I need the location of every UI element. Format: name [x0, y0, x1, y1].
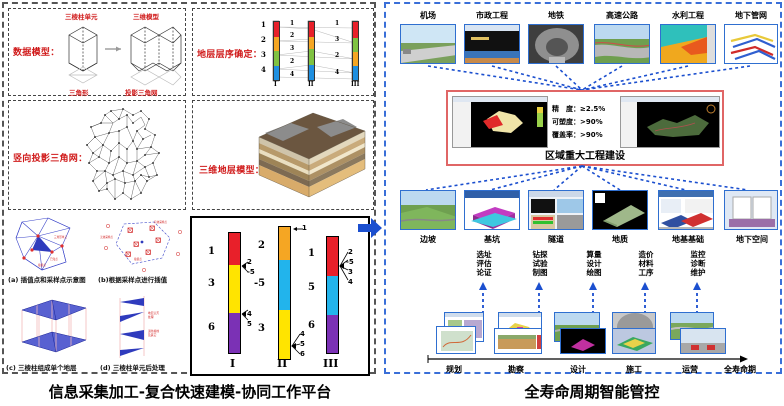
center-spec-2: 覆盖率：>90% — [552, 130, 603, 140]
corr-right-num-4: 4 — [335, 69, 339, 76]
corr-mid-num-5: 4 — [290, 71, 294, 78]
center-spec-1: 可塑度：>90% — [552, 117, 603, 127]
subfigure-c: (c) 三棱柱组成单个地层 — [12, 294, 100, 372]
center-spec-0-key: 精 度： — [552, 105, 580, 113]
top-thumb-4[interactable] — [660, 24, 716, 64]
lifecycle-stage-2: 设计 — [570, 364, 586, 375]
subfigure-a-svg: 三角形单元 已知点 插值点 — [8, 216, 96, 274]
verb-column-2: 算量 设计 绘图 — [574, 250, 614, 277]
svg-text:无效采样点: 无效采样点 — [100, 235, 113, 239]
col-II-label-2: 2 — [258, 240, 265, 251]
mid-thumb-5[interactable] — [724, 190, 778, 230]
mid-thumb-cap-4: 地基基础 — [658, 234, 718, 245]
mid-thumb-cap-1: 基坑 — [464, 234, 520, 245]
svg-text:插值点: 插值点 — [134, 257, 142, 261]
verb-column-3: 造价 材料 工序 — [626, 250, 666, 277]
corr-left-num-1: 1 — [261, 20, 266, 29]
lifecycle-stage-0: 规划 — [446, 364, 462, 375]
verb-column-1: 钻探 试验 制图 — [520, 250, 560, 277]
lifecycle-up-arrows — [386, 280, 784, 314]
corr-mid-num-2: 2 — [290, 32, 294, 39]
lifecycle-axis — [426, 354, 766, 366]
center-box-caption: 区域重大工程建设 — [448, 147, 722, 162]
col-I-roman: I — [230, 357, 235, 370]
verb-2-2: 绘图 — [574, 268, 614, 277]
mid-connector-lines — [386, 164, 784, 192]
mid-thumb-1[interactable] — [464, 190, 520, 230]
corr-mid-num-3: 3 — [290, 45, 294, 52]
top-thumb-1[interactable] — [464, 24, 520, 64]
strata-block-figure — [239, 107, 369, 203]
correlation-column-2 — [308, 21, 315, 81]
left-panel-title: 信息采集加工-复合快速建模-协同工作平台 — [0, 381, 380, 402]
corr-axis-2: II — [308, 81, 314, 88]
borehole-column-chart: 1 3 6 2 -5 4 5 I 2 -5 3 — [190, 216, 370, 376]
col-III-leaders — [336, 248, 350, 284]
mid-thumb-4[interactable] — [658, 190, 714, 230]
mid-thumb-cap-3: 地质 — [592, 234, 648, 245]
lifecycle-axis-label: 全寿命期 — [724, 364, 756, 375]
tin-mesh-figure — [71, 105, 183, 207]
verb-1-2: 制图 — [520, 268, 560, 277]
verb-2-1: 设计 — [574, 259, 614, 268]
correlation-column-1 — [273, 21, 280, 81]
seg-II-2 — [279, 260, 290, 310]
center-spec-1-value: >90% — [580, 118, 603, 126]
top-thumb-cap-5: 地下管网 — [722, 10, 780, 21]
corr-right-num-1: 1 — [335, 20, 339, 27]
lifecycle-thumb-0b[interactable] — [436, 326, 476, 354]
col-I-label-1: 1 — [208, 246, 215, 257]
center-spec-1-key: 可塑度： — [552, 118, 580, 126]
subfigure-a: 三角形单元 已知点 插值点 (a) 插值点和采样点示意图 — [8, 216, 96, 288]
verb-4-2: 维护 — [678, 268, 718, 277]
top-thumb-cap-4: 水利工程 — [658, 10, 718, 21]
verb-4-1: 诊断 — [678, 259, 718, 268]
projected-tin-label: 投影三角网 — [125, 87, 158, 97]
top-thumb-3[interactable] — [594, 24, 650, 64]
col-II-leader-top — [292, 224, 304, 234]
right-panel: 机场 市政工程 地铁 高速公路 水利工程 地下管网 — [384, 2, 782, 374]
correlation-column-3 — [352, 21, 359, 81]
quadrant-data-model-label: 数据模型： — [13, 45, 60, 58]
svg-text:已知点: 已知点 — [50, 257, 58, 261]
lifecycle-thumb-2b[interactable] — [560, 328, 606, 354]
subfigure-d-svg: 地层尖灭处理 退化棱柱及其它 — [104, 294, 190, 362]
col-I-label-6: 6 — [208, 322, 215, 333]
quadrant-strata-sequence: 地层层序确定： — [192, 8, 374, 96]
center-thumb-right[interactable] — [620, 96, 720, 148]
prism-figure-svg — [57, 19, 185, 87]
top-thumb-2[interactable] — [528, 24, 584, 64]
mid-thumb-cap-0: 边坡 — [400, 234, 456, 245]
corr-right-num-2: 3 — [335, 36, 339, 43]
subfigure-a-caption: (a) 插值点和采样点示意图 — [8, 274, 86, 284]
mid-thumb-2[interactable] — [528, 190, 584, 230]
quadrant-3d-strata-model: 三维地层模型： — [192, 100, 374, 210]
triangle-label: 三角形 — [69, 87, 89, 97]
col-I-leaders — [236, 254, 254, 330]
subfigure-c-svg — [12, 294, 96, 362]
corr-left-num-2: 2 — [261, 35, 266, 44]
quadrant-data-model: 数据模型： 三棱柱单元 三维模型 三角形 投影三角网 — [8, 8, 186, 96]
col-I-label-3: 3 — [208, 278, 215, 289]
subfigure-c-caption: (c) 三棱柱组成单个地层 — [6, 362, 77, 372]
lifecycle-stage-4: 运营 — [682, 364, 698, 375]
verb-1-0: 钻探 — [520, 250, 560, 259]
verb-column-4: 监控 诊断 维护 — [678, 250, 718, 277]
verb-3-0: 造价 — [626, 250, 666, 259]
corr-axis-3: III — [351, 81, 359, 88]
corr-mid-num-4: 2 — [290, 58, 294, 65]
verb-1-1: 试验 — [520, 259, 560, 268]
top-thumb-cap-0: 机场 — [400, 10, 456, 21]
verb-2-0: 算量 — [574, 250, 614, 259]
svg-text:有效采样点: 有效采样点 — [154, 220, 167, 224]
svg-text:及其它: 及其它 — [148, 333, 157, 337]
top-thumb-cap-1: 市政工程 — [464, 10, 520, 21]
subfigure-d: 地层尖灭处理 退化棱柱及其它 (d) 三棱柱单元后处理 — [104, 294, 192, 372]
center-spec-0-value: ≥2.5% — [580, 105, 605, 113]
subfigure-b-svg: 有效采样点 无效采样点 插值点 — [98, 216, 190, 274]
col-II-label-5: -5 — [254, 278, 265, 289]
verb-column-0: 选址 评估 论证 — [464, 250, 504, 277]
subfigure-b-caption: (b)根据采样点进行插值 — [98, 274, 167, 284]
quadrant-strata-sequence-label: 地层层序确定： — [197, 47, 262, 60]
corr-left-num-3: 3 — [261, 50, 266, 59]
center-project-box: 精 度：≥2.5% 可塑度：>90% 覆盖率：>90% 区域重大工程建设 — [446, 90, 724, 166]
top-thumb-5[interactable] — [724, 24, 778, 64]
col-II-leaders-bottom — [288, 328, 302, 356]
verb-0-0: 选址 — [464, 250, 504, 259]
top-thumb-0[interactable] — [400, 24, 456, 64]
lifecycle-stage-1: 勘察 — [508, 364, 524, 375]
top-thumb-cap-2: 地铁 — [528, 10, 584, 21]
center-spec-0: 精 度：≥2.5% — [552, 104, 605, 114]
corr-right-num-3: 2 — [335, 52, 339, 59]
seg-III-3 — [327, 315, 338, 353]
subfigure-d-caption: (d) 三棱柱单元后处理 — [100, 362, 165, 372]
mid-thumb-3[interactable] — [592, 190, 648, 230]
flow-arrow-icon — [358, 218, 382, 238]
poster-root: 数据模型： 三棱柱单元 三维模型 三角形 投影三角网 — [0, 0, 784, 406]
correlation-diagram: 1 2 3 4 1 2 3 2 4 1 3 2 4 I II III — [259, 17, 369, 91]
verb-3-1: 材料 — [626, 259, 666, 268]
corr-left-num-4: 4 — [261, 65, 266, 74]
center-spec-2-key: 覆盖率： — [552, 131, 580, 139]
verb-0-2: 论证 — [464, 268, 504, 277]
quadrant-projected-tin: 竖向投影三角网： — [8, 100, 186, 210]
corr-mid-num-1: 1 — [290, 20, 294, 27]
col-III-label-1: 1 — [308, 248, 315, 259]
col-III-roman: III — [323, 357, 338, 370]
mid-thumb-cap-5: 地下空间 — [722, 234, 782, 245]
verb-4-0: 监控 — [678, 250, 718, 259]
subfigure-b: 有效采样点 无效采样点 插值点 (b)根据采样点进行插值 — [98, 216, 190, 288]
center-spec-2-value: >90% — [580, 131, 603, 139]
corr-axis-1: I — [274, 81, 277, 88]
seg-II-1 — [279, 227, 290, 260]
col-III-label-6: 6 — [308, 320, 315, 331]
lifecycle-thumb-4b[interactable] — [680, 328, 726, 354]
col-II-label-3: 3 — [258, 323, 265, 334]
lifecycle-stage-3: 施工 — [626, 364, 642, 375]
right-panel-title: 全寿命周期智能管控 — [400, 381, 784, 402]
svg-text:处理: 处理 — [148, 315, 154, 319]
col-II-roman: II — [277, 357, 287, 370]
mid-thumb-0[interactable] — [400, 190, 456, 230]
lifecycle-thumb-3b[interactable] — [612, 328, 656, 354]
col-III-label-5: 5 — [308, 282, 315, 293]
top-connector-lines — [386, 62, 784, 92]
svg-text:插值点: 插值点 — [38, 263, 46, 267]
svg-text:三角形单元: 三角形单元 — [54, 235, 67, 239]
top-thumb-cap-3: 高速公路 — [592, 10, 652, 21]
verb-0-1: 评估 — [464, 259, 504, 268]
lifecycle-thumb-1b[interactable] — [494, 328, 542, 354]
mid-thumb-cap-2: 隧道 — [528, 234, 584, 245]
lifecycle-thumbs — [436, 312, 736, 356]
left-panel: 数据模型： 三棱柱单元 三维模型 三角形 投影三角网 — [2, 2, 376, 374]
center-thumb-left[interactable] — [452, 96, 548, 148]
verb-3-2: 工序 — [626, 268, 666, 277]
